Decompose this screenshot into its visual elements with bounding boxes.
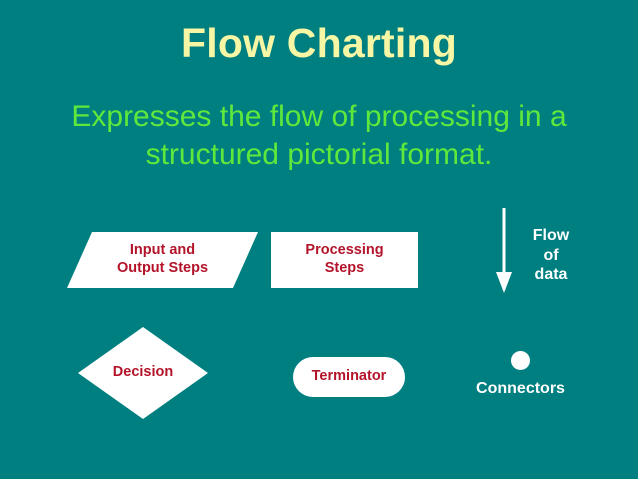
flowchart-shape-decision: Decision — [78, 327, 208, 419]
circle-icon — [511, 351, 530, 370]
page-title: Flow Charting — [0, 22, 638, 65]
input-output-label: Input and Output Steps — [67, 232, 258, 288]
flowchart-shape-terminator: Terminator — [293, 357, 405, 397]
slide-canvas: Flow Charting Expresses the flow of proc… — [0, 0, 638, 479]
flow-of-data-label: Flow of data — [512, 226, 590, 285]
slide-subtitle: Expresses the flow of processing in a st… — [40, 98, 598, 175]
decision-label: Decision — [78, 327, 208, 419]
processing-label: Processing Steps — [271, 232, 418, 288]
flowchart-shape-processing: Processing Steps — [271, 232, 418, 288]
connectors-label: Connectors — [460, 379, 581, 399]
flowchart-shape-input-output: Input and Output Steps — [67, 232, 258, 288]
terminator-label: Terminator — [293, 357, 405, 397]
